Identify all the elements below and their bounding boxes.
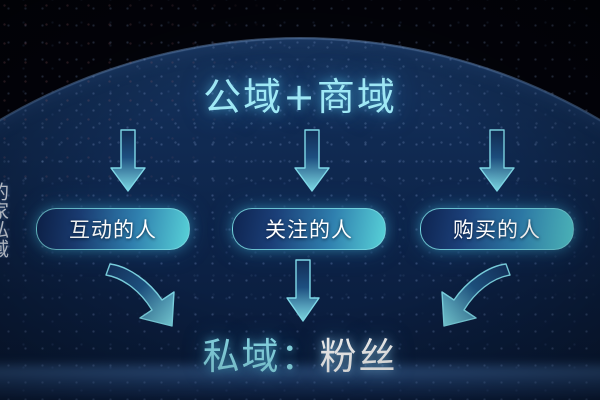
node-interacted-people[interactable]: 互动的人 [36,208,190,250]
arrow-down-icon [108,128,148,194]
arrow-down-icon [292,128,332,194]
footer-label-fans: 粉丝 [320,335,398,378]
node-label: 关注的人 [265,214,353,244]
curved-arrow-down-right-icon [100,256,192,336]
node-label: 购买的人 [453,214,541,244]
slide-canvas: 的家私域 公域+商域 [0,0,600,400]
node-following-people[interactable]: 关注的人 [232,208,386,250]
footer-label-private-domain: 私域： [203,335,320,378]
slide-footer: 私域：粉丝 [0,326,600,380]
node-label: 互动的人 [69,214,157,244]
slide-content: 公域+商域 互动的人 [0,0,600,400]
curved-arrow-down-left-icon [424,256,516,336]
node-purchasing-people[interactable]: 购买的人 [420,208,574,250]
arrow-down-icon [285,258,321,324]
arrow-down-icon [477,128,517,194]
